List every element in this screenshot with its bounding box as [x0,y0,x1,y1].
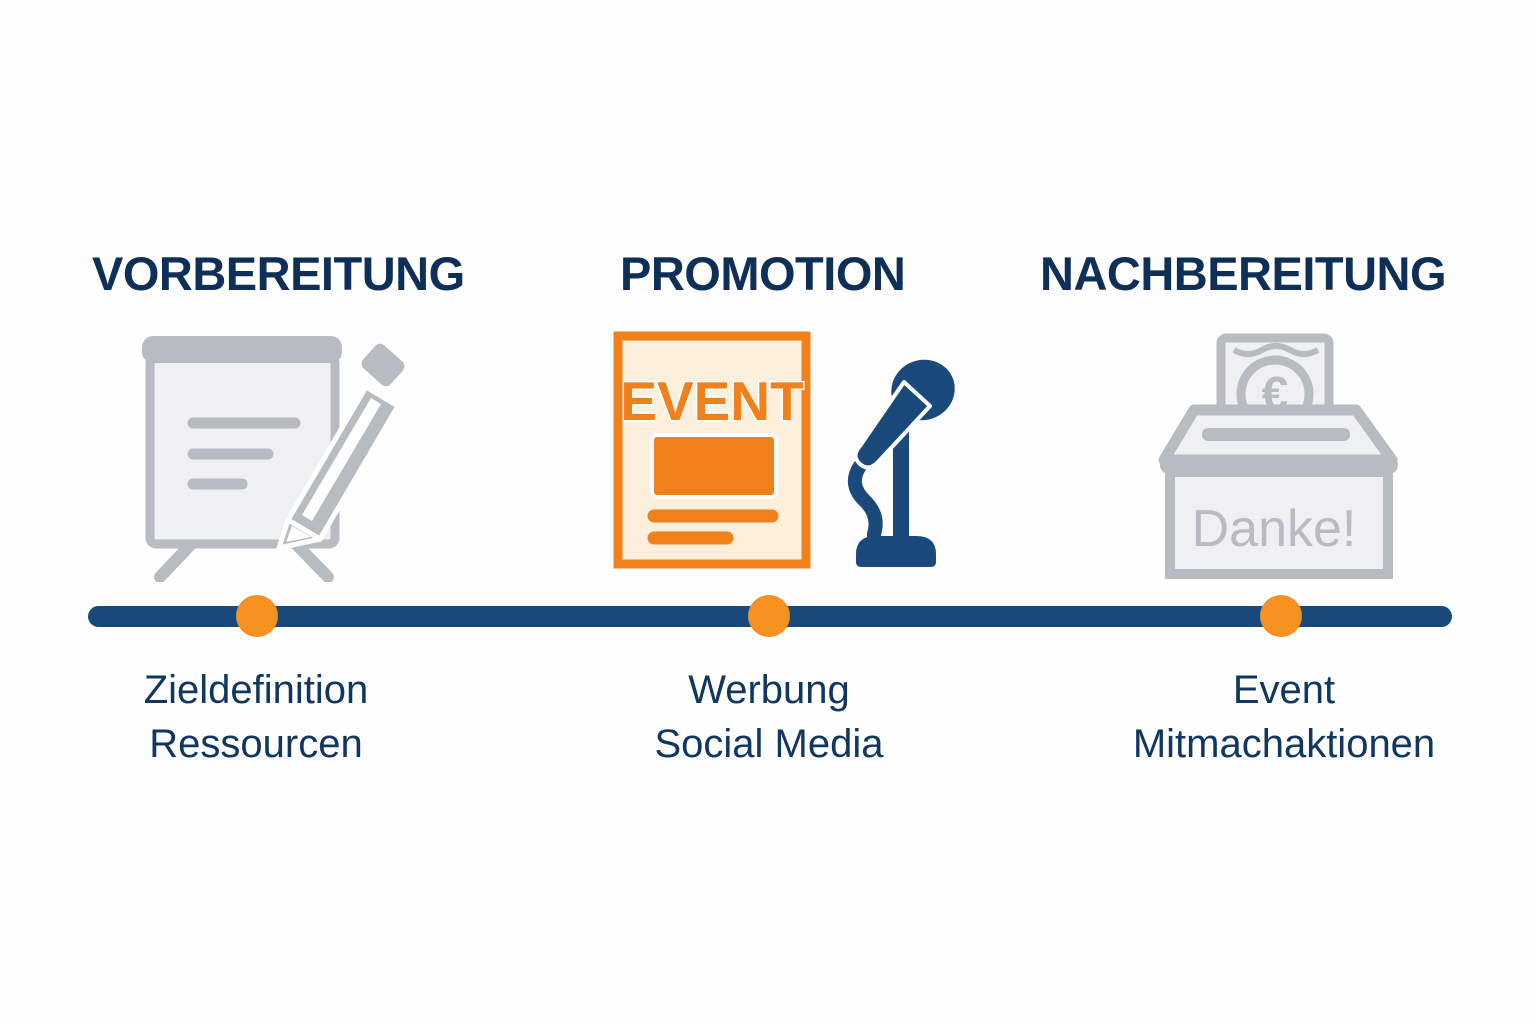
timeline-marker-vorbereitung[interactable] [236,595,278,637]
microphone-icon [838,358,963,578]
phase-heading-promotion: PROMOTION [620,250,905,297]
event-poster-svg: EVENT [612,330,812,570]
poster-image-block-icon [652,435,776,497]
phase-heading-vorbereitung: VORBEREITUNG [92,250,465,297]
caption-line-1: Zieldefinition [0,663,512,717]
poster-title-text: EVENT [620,370,803,432]
flipchart-top-bar-icon [142,336,342,363]
donation-box-icon: € Danke! [1156,332,1406,585]
mic-post-icon [893,430,909,548]
caption-line-1: Werbung [640,663,898,717]
phase-caption-promotion: Werbung Social Media [640,663,898,771]
caption-line-2: Ressourcen [0,717,512,771]
caption-line-2: Mitmachaktionen [1054,717,1514,771]
caption-line-1: Event [1054,663,1514,717]
timeline-infographic: VORBEREITUNG PROMOTION NACHBEREITUNG [0,0,1536,1024]
flipchart-pencil-icon [140,332,430,587]
caption-line-2: Social Media [640,717,898,771]
phase-heading-nachbereitung: NACHBEREITUNG [1040,250,1446,297]
flipchart-pencil-svg [140,332,430,582]
donation-box-slot-icon [1202,428,1350,441]
donation-box-label-text: Danke! [1192,500,1357,558]
phase-caption-vorbereitung: Zieldefinition Ressourcen [0,663,512,771]
microphone-svg [838,358,963,573]
donation-box-svg: € Danke! [1156,332,1406,580]
timeline [0,592,1536,656]
phase-caption-nachbereitung: Event Mitmachaktionen [1054,663,1514,771]
timeline-marker-promotion[interactable] [748,595,790,637]
event-poster-icon: EVENT [612,330,812,575]
timeline-marker-nachbereitung[interactable] [1260,595,1302,637]
